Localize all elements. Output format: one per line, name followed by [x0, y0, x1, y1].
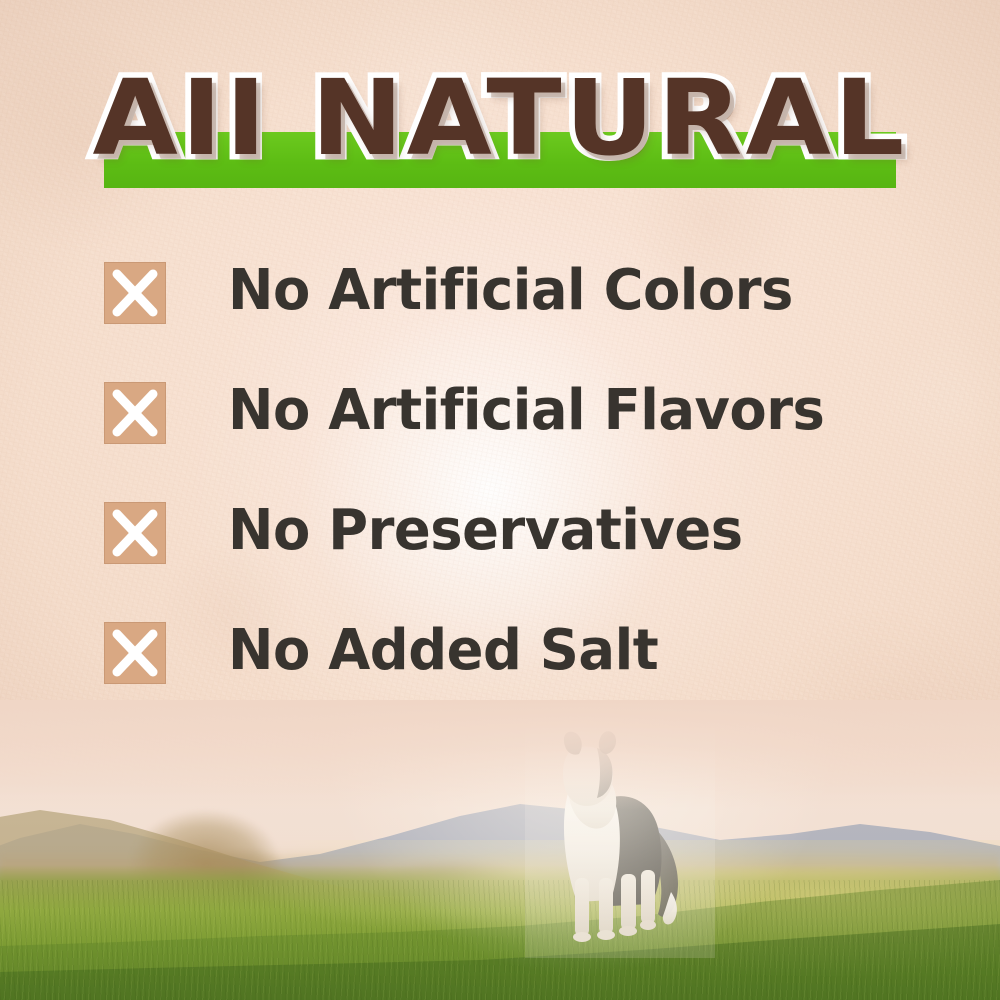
all-natural-poster: AII NATURAL No Artificial Colors: [0, 0, 1000, 1000]
x-mark-icon: [104, 622, 166, 684]
x-mark-icon: [104, 382, 166, 444]
list-item: No Artificial Colors: [104, 258, 924, 378]
feature-label: No Added Salt: [228, 618, 658, 684]
border-collie-dog: [525, 728, 715, 958]
x-mark-icon: [104, 502, 166, 564]
list-item: No Preservatives: [104, 498, 924, 618]
feature-label: No Preservatives: [228, 498, 743, 564]
list-item: No Artificial Flavors: [104, 378, 924, 498]
landscape-photo: [0, 700, 1000, 1000]
headline-block: AII NATURAL: [0, 62, 1000, 202]
x-mark-icon: [104, 262, 166, 324]
feature-label: No Artificial Flavors: [228, 378, 824, 444]
page-title: AII NATURAL: [0, 62, 1000, 174]
grass-blade-texture: [0, 880, 1000, 1000]
feature-label: No Artificial Colors: [228, 258, 793, 324]
feature-list: No Artificial Colors No Artificial Flavo…: [104, 258, 924, 738]
